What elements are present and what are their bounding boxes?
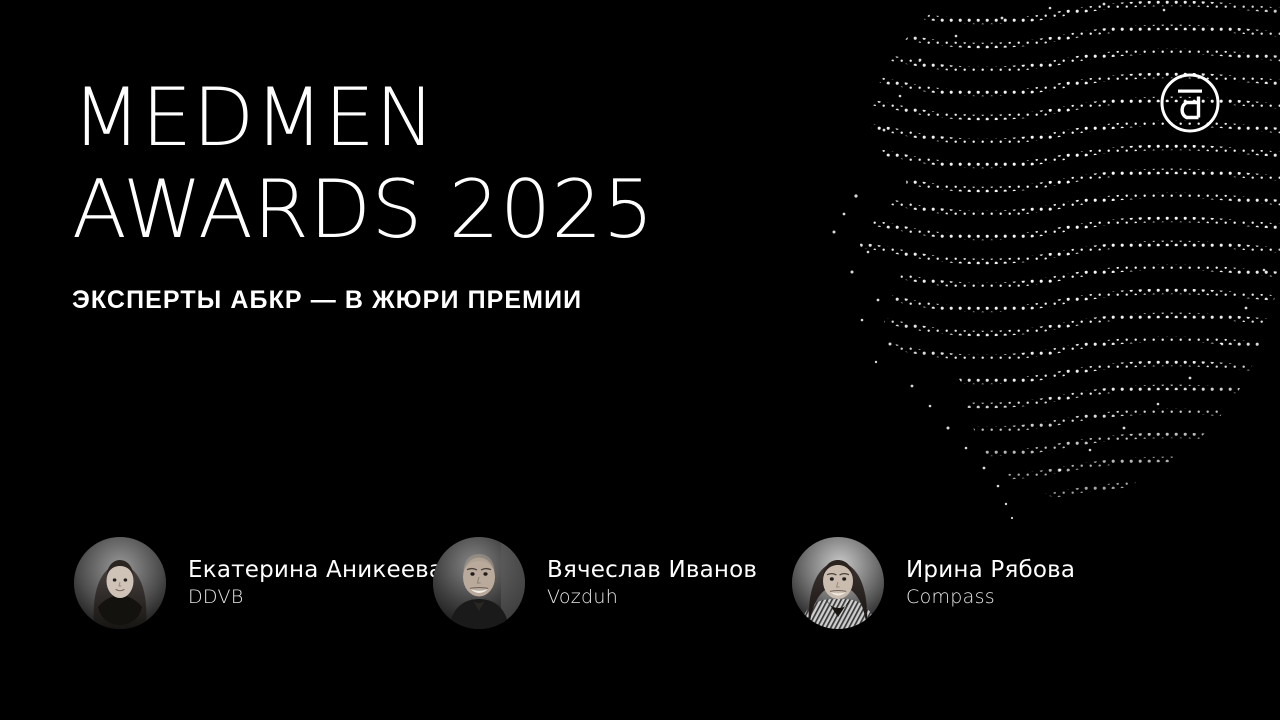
headline-block: MEDMEN AWARDS 2025 ЭКСПЕРТЫ АБКР — В ЖЮР… xyxy=(72,72,772,315)
abkr-logo-icon xyxy=(1158,71,1222,135)
page-title-line-1: MEDMEN xyxy=(72,72,772,164)
avatar-vyacheslav-ivanov xyxy=(433,537,525,629)
avatar-irina-ryabova xyxy=(792,537,884,629)
presenter-name: Ирина Рябова xyxy=(906,559,1075,582)
presenter-company: Compass xyxy=(906,588,1075,607)
presenter-text: Ирина Рябова Compass xyxy=(906,559,1075,607)
slide-root: MEDMEN AWARDS 2025 ЭКСПЕРТЫ АБКР — В ЖЮР… xyxy=(0,0,1280,720)
presenters-row: Екатерина Аникеева DDVB xyxy=(74,534,1214,644)
presenter-name: Екатерина Аникеева xyxy=(188,559,443,582)
avatar-ekaterina-anikeeva xyxy=(74,537,166,629)
presenter-name: Вячеслав Иванов xyxy=(547,559,757,582)
page-subtitle: ЭКСПЕРТЫ АБКР — В ЖЮРИ ПРЕМИИ xyxy=(72,286,772,315)
presenter-item: Вячеслав Иванов Vozduh xyxy=(433,534,757,632)
presenter-text: Екатерина Аникеева DDVB xyxy=(188,559,443,607)
presenter-company: DDVB xyxy=(188,588,443,607)
presenter-company: Vozduh xyxy=(547,588,757,607)
presenter-text: Вячеслав Иванов Vozduh xyxy=(547,559,757,607)
presenter-item: Екатерина Аникеева DDVB xyxy=(74,534,443,632)
presenter-item: Ирина Рябова Compass xyxy=(792,534,1075,632)
page-title-line-2: AWARDS 2025 xyxy=(72,164,772,256)
